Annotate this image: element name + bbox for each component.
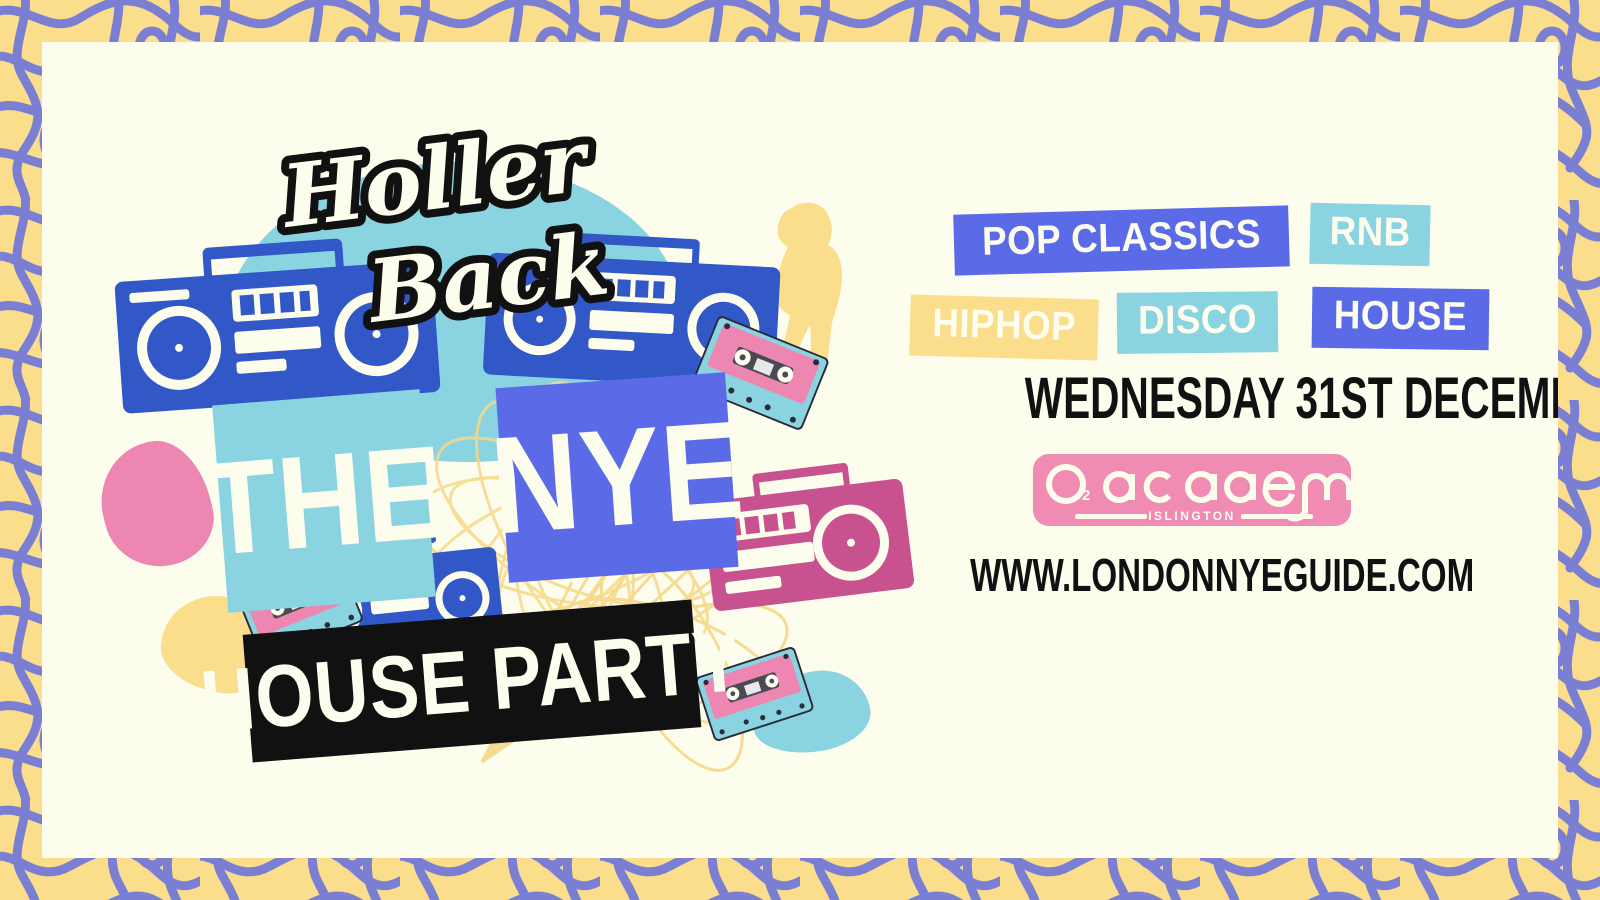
poster-inner-panel: Holler Holler Back Back THE NYE HOUSE PA… — [42, 42, 1558, 858]
genre-tag-list: POP CLASSICS RNB HIPHOP DISCO HOUSE — [872, 192, 1512, 352]
venue-o2-subscript: 2 — [1082, 487, 1090, 504]
event-date: WEDNESDAY 31ST DECEMBER 2025 — [872, 370, 1512, 428]
event-info-column: POP CLASSICS RNB HIPHOP DISCO HOUSE WEDN… — [872, 192, 1512, 598]
venue-location-text: ISLINGTON — [1148, 509, 1236, 523]
genre-tag-rnb: RNB — [1309, 203, 1430, 267]
event-website-text: WWW.LONDONNYEGUIDE.COM — [970, 552, 1474, 598]
genre-tag-hiphop: HIPHOP — [909, 295, 1099, 361]
venue-logo-container: 2 ISLINGTON — [872, 454, 1512, 526]
genre-tag-label: HOUSE — [1334, 293, 1468, 340]
event-website-url[interactable]: WWW.LONDONNYEGUIDE.COM — [872, 552, 1512, 598]
poster: Holler Holler Back Back THE NYE HOUSE PA… — [0, 0, 1600, 900]
title-house-party-text: HOUSE PARTY — [197, 616, 746, 746]
title-block-nye: NYE — [495, 372, 738, 583]
title-block-the: THE — [212, 389, 436, 613]
title-the-text: THE — [199, 426, 449, 576]
holler-back-logo: Holler Holler Back Back — [277, 122, 637, 357]
event-date-text: WEDNESDAY 31ST DECEMBER 2025 — [1025, 370, 1558, 428]
o2-academy-islington-logo: 2 ISLINGTON — [1033, 454, 1351, 526]
genre-tag-label: HIPHOP — [932, 301, 1077, 350]
genre-tag-house: HOUSE — [1312, 287, 1490, 350]
genre-tag-label: DISCO — [1138, 297, 1257, 343]
genre-tag-label: POP CLASSICS — [981, 212, 1261, 265]
genre-tag-label: RNB — [1329, 209, 1411, 256]
title-nye-text: NYE — [486, 400, 747, 555]
genre-tag-disco: DISCO — [1117, 291, 1279, 354]
genre-tag-pop-classics: POP CLASSICS — [953, 205, 1290, 275]
